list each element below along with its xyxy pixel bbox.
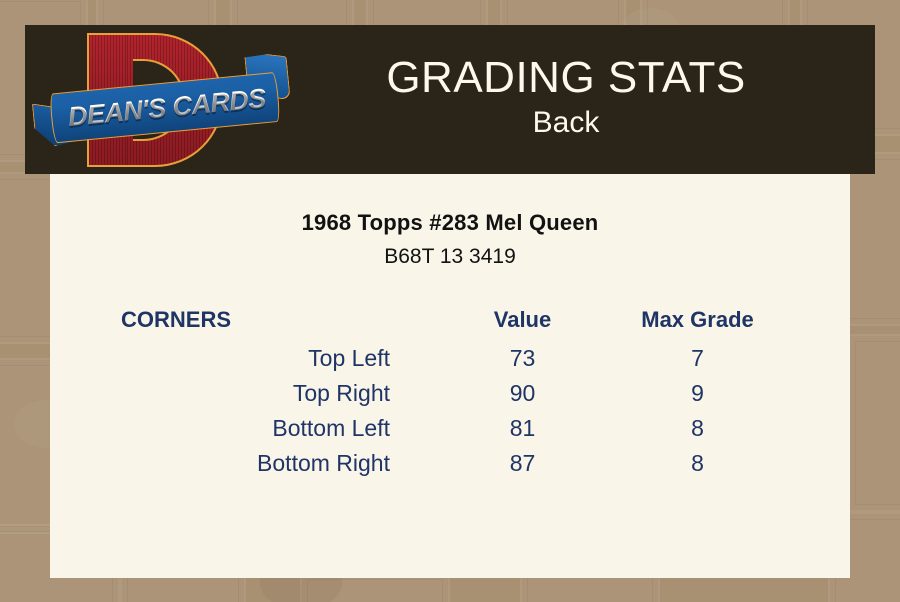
- row-label: Top Right: [115, 376, 435, 411]
- table-row: Top Right 90 9: [115, 376, 785, 411]
- content-panel: 1968 Topps #283 Mel Queen B68T 13 3419 C…: [50, 174, 850, 578]
- column-header-max-grade: Max Grade: [610, 302, 785, 341]
- row-max-grade: 8: [610, 446, 785, 481]
- table-row: Top Left 73 7: [115, 341, 785, 376]
- row-max-grade: 8: [610, 411, 785, 446]
- header-title-group: GRADING STATS Back: [297, 54, 875, 145]
- table-row: Bottom Right 87 8: [115, 446, 785, 481]
- row-value: 81: [435, 411, 610, 446]
- card-title: 1968 Topps #283 Mel Queen: [50, 210, 850, 236]
- row-label: Top Left: [115, 341, 435, 376]
- row-max-grade: 9: [610, 376, 785, 411]
- page-subtitle: Back: [297, 104, 835, 142]
- logo-artwork: DEAN'S CARDS: [25, 25, 297, 174]
- row-value: 87: [435, 446, 610, 481]
- row-max-grade: 7: [610, 341, 785, 376]
- row-label: Bottom Right: [115, 446, 435, 481]
- card-identifier: B68T 13 3419: [50, 245, 850, 269]
- page-header: DEAN'S CARDS GRADING STATS Back: [25, 25, 875, 174]
- column-header-value: Value: [435, 302, 610, 341]
- row-value: 90: [435, 376, 610, 411]
- table-header-row: CORNERS Value Max Grade: [115, 302, 785, 341]
- grading-stats-table: CORNERS Value Max Grade Top Left 73 7 To…: [115, 302, 785, 481]
- deans-cards-logo[interactable]: DEAN'S CARDS: [25, 25, 297, 174]
- table-row: Bottom Left 81 8: [115, 411, 785, 446]
- row-value: 73: [435, 341, 610, 376]
- column-header-corners: CORNERS: [115, 302, 435, 341]
- row-label: Bottom Left: [115, 411, 435, 446]
- ribbon-banner-icon: DEAN'S CARDS: [31, 68, 293, 150]
- table-body: Top Left 73 7 Top Right 90 9 Bottom Left…: [115, 341, 785, 481]
- page-title: GRADING STATS: [297, 54, 835, 102]
- background-card-ghost: [848, 334, 900, 512]
- table-head: CORNERS Value Max Grade: [115, 302, 785, 341]
